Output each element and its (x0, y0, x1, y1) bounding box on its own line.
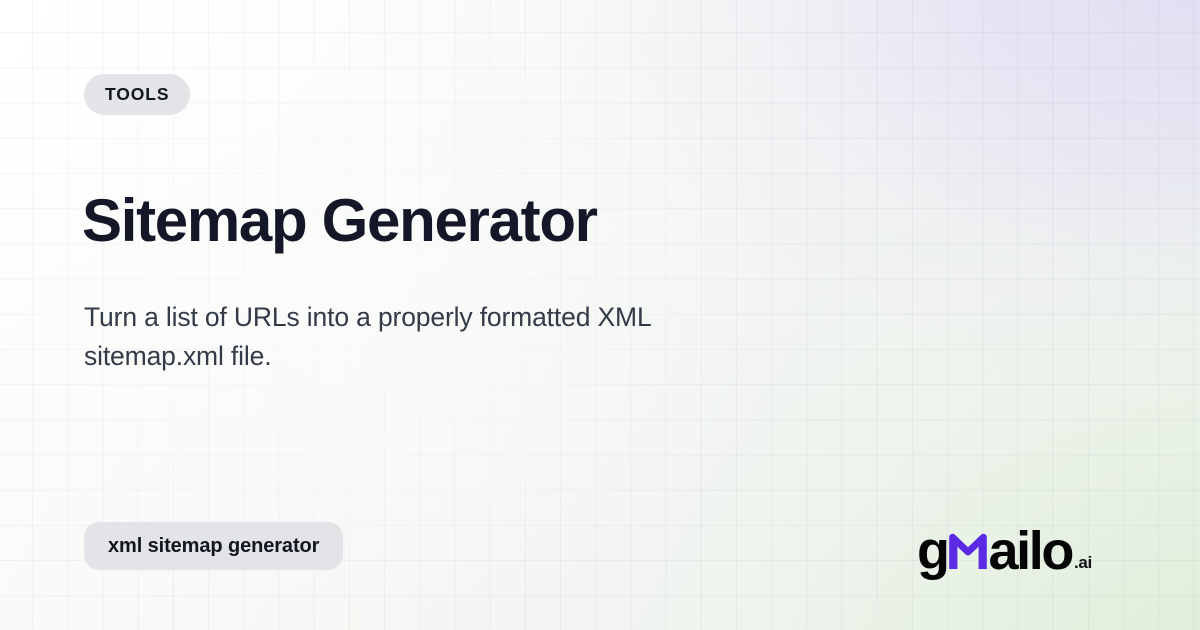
brand-logo-letter-g: g (917, 524, 948, 578)
brand-logo-tld: .ai (1074, 554, 1092, 571)
og-card: TOOLS Sitemap Generator Turn a list of U… (0, 0, 1200, 630)
brand-logo-wordmark: g ailo .ai (917, 524, 1092, 578)
page-title: Sitemap Generator (82, 186, 597, 256)
page-subtitle: Turn a list of URLs into a properly form… (84, 298, 784, 376)
category-badge-tools: TOOLS (84, 74, 190, 115)
brand-logo-m-icon (946, 525, 990, 563)
brand-logo-letters-ailo: ailo (989, 524, 1072, 578)
card-content: TOOLS Sitemap Generator Turn a list of U… (0, 0, 1200, 630)
brand-logo: g ailo .ai (917, 524, 1092, 578)
keyword-tag: xml sitemap generator (84, 522, 343, 570)
